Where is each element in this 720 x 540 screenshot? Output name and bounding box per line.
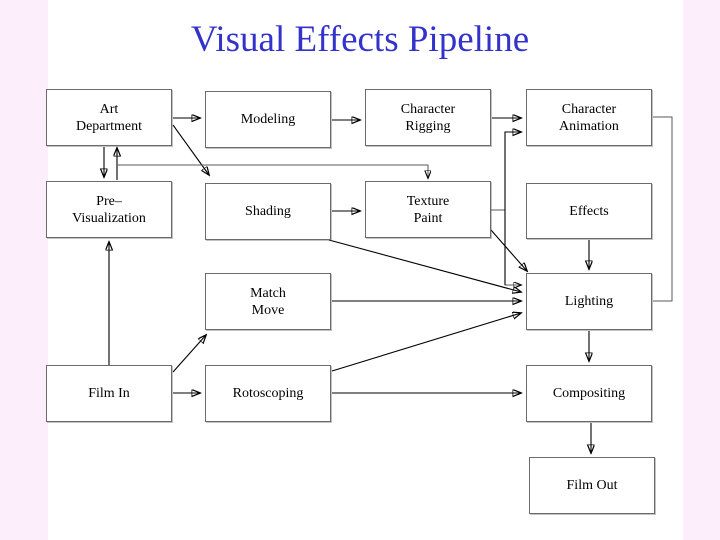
node-art-department[interactable]: Art Department bbox=[46, 89, 172, 146]
node-label-match-move: Match Move bbox=[250, 285, 286, 319]
node-label-film-in: Film In bbox=[88, 385, 130, 402]
node-match-move[interactable]: Match Move bbox=[205, 273, 331, 330]
node-label-modeling: Modeling bbox=[241, 111, 295, 128]
node-rotoscoping[interactable]: Rotoscoping bbox=[205, 365, 331, 422]
page-title: Visual Effects Pipeline bbox=[0, 18, 720, 62]
edge-texture-paint-diagonal-to-lighting bbox=[491, 230, 527, 271]
node-lighting[interactable]: Lighting bbox=[526, 273, 652, 330]
node-effects[interactable]: Effects bbox=[526, 183, 652, 239]
node-label-pre-visualization: Pre– Visualization bbox=[72, 193, 146, 227]
node-label-texture-paint: Texture Paint bbox=[407, 193, 450, 227]
node-shading[interactable]: Shading bbox=[205, 183, 331, 240]
node-compositing[interactable]: Compositing bbox=[526, 365, 652, 422]
edge-rotoscoping-to-lighting bbox=[332, 313, 521, 371]
slide-canvas: Visual Effects Pipeline bbox=[0, 0, 720, 540]
right-decorative-band bbox=[683, 0, 720, 540]
node-film-out[interactable]: Film Out bbox=[529, 457, 655, 514]
node-label-effects: Effects bbox=[569, 203, 608, 220]
node-label-character-animation: Character Animation bbox=[559, 101, 619, 135]
edge-texture-paint-to-lighting bbox=[491, 210, 521, 285]
edge-art-department-to-shading bbox=[173, 125, 209, 175]
node-film-in[interactable]: Film In bbox=[46, 365, 172, 422]
edge-character-animation-to-lighting bbox=[653, 117, 672, 301]
edge-shading-to-lighting bbox=[329, 240, 521, 292]
node-label-art-department: Art Department bbox=[76, 101, 142, 135]
node-pre-visualization[interactable]: Pre– Visualization bbox=[46, 181, 172, 238]
node-label-lighting: Lighting bbox=[565, 293, 613, 310]
left-decorative-band bbox=[0, 0, 48, 540]
node-character-rigging[interactable]: Character Rigging bbox=[365, 89, 491, 146]
node-texture-paint[interactable]: Texture Paint bbox=[365, 181, 491, 238]
node-label-compositing: Compositing bbox=[553, 385, 625, 402]
edge-texture-paint-to-character-animation bbox=[505, 132, 521, 285]
node-label-film-out: Film Out bbox=[567, 477, 618, 494]
node-modeling[interactable]: Modeling bbox=[205, 91, 331, 148]
node-label-character-rigging: Character Rigging bbox=[401, 101, 455, 135]
node-character-animation[interactable]: Character Animation bbox=[526, 89, 652, 146]
edge-art-department-to-texture-paint bbox=[117, 165, 428, 178]
edge-film-in-to-match-move bbox=[173, 335, 206, 372]
node-label-shading: Shading bbox=[245, 203, 291, 220]
node-label-rotoscoping: Rotoscoping bbox=[233, 385, 304, 402]
